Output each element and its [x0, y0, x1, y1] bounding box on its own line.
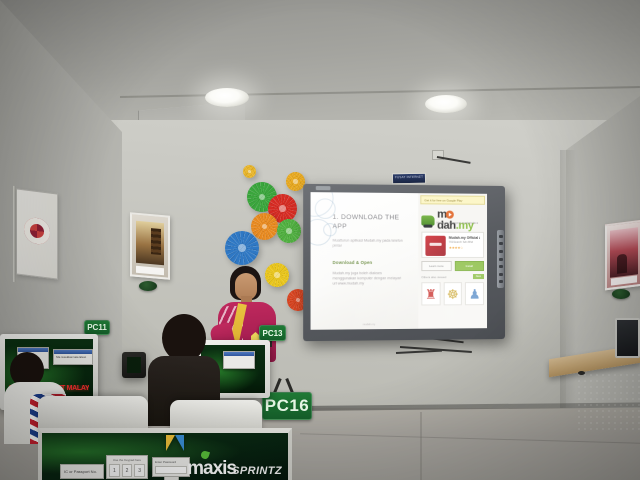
related-tile-1[interactable]: ♜: [421, 282, 440, 305]
pc-label-13: PC13: [259, 325, 286, 341]
cursor-icon: [166, 435, 184, 451]
student-monitor-back[interactable]: [122, 352, 146, 378]
related-section-header: Others also viewed New: [421, 274, 484, 279]
paper-fan-amber-small: [286, 172, 305, 191]
browser-panel[interactable]: Get it for free on Google Play mdah.my M…: [418, 193, 487, 329]
related-tiles: ♜ ☸ ♟: [421, 282, 484, 305]
app-icon: [425, 236, 445, 256]
poster-badge-left-icon: [139, 281, 157, 291]
framed-poster-right: [605, 220, 640, 291]
dialog-titlebar: [224, 352, 254, 356]
slide-footer: mudah.my: [363, 323, 376, 326]
poster-caption: [136, 266, 164, 275]
related-section-badge: New: [473, 274, 484, 279]
instructor-monitor[interactable]: [615, 318, 640, 358]
foreground-monitor[interactable]: IC or Passport No. Use the Keypad here 1…: [38, 428, 292, 480]
password-dialog-title: Enter Password: [155, 460, 187, 464]
password-dialog[interactable]: Enter Password: [152, 457, 190, 477]
whiteboard-button[interactable]: [499, 250, 503, 253]
slide-subheading: Download & Open: [333, 260, 373, 265]
whiteboard-button[interactable]: [499, 235, 503, 238]
poster-artwork: [610, 227, 638, 277]
sprintz-wordmark: SPRINTZ: [232, 465, 282, 477]
keypad-keys: 1 2 3: [109, 464, 145, 477]
app-rating-stars: ★★★★☆: [449, 246, 480, 250]
monitor-screen[interactable]: [127, 357, 141, 373]
interactive-whiteboard[interactable]: 1. DOWNLOAD THE APP Muatturun aplikasi M…: [303, 184, 505, 341]
mudah-tagline: Malaysia's largest marketplace: [437, 222, 479, 225]
rollup-banner: [16, 188, 58, 279]
floor-seam-vertical: [420, 412, 422, 480]
tile-glyph-icon: ♟: [469, 287, 481, 300]
paper-fan-tiny: [243, 165, 256, 178]
desk-cable-grommet: [578, 371, 585, 375]
maxis-wordmark: maxis: [187, 458, 236, 479]
paper-fan-blue: [225, 231, 259, 265]
poster-artwork: [136, 221, 164, 265]
whiteboard-button[interactable]: [499, 265, 503, 268]
paper-fan-orange: [251, 213, 278, 240]
student-head: [162, 314, 206, 362]
whiteboard-button[interactable]: [499, 280, 503, 283]
app-action-buttons: Learn more Install: [421, 261, 484, 271]
screen-dialog[interactable]: [223, 351, 255, 369]
password-input[interactable]: [155, 466, 187, 474]
related-section-title: Others also viewed: [421, 275, 446, 279]
maxis-logo: maxis: [187, 459, 236, 478]
learn-more-button[interactable]: Learn more: [421, 261, 451, 271]
app-meta: Mudah.my Official App 701Search Sdn Bhd …: [449, 236, 480, 254]
slide-body-text-secondary: Mudah.my juga boleh diakses menggunakan …: [333, 271, 403, 287]
wall-sign-text: PUSAT INTERNET: [393, 174, 425, 182]
whiteboard-button[interactable]: [499, 242, 503, 245]
framed-poster-left: [130, 212, 170, 279]
instructor-desk-panel: [576, 372, 640, 434]
tile-glyph-icon: ♜: [425, 287, 437, 300]
truck-icon: [421, 215, 435, 225]
whiteboard-button[interactable]: [499, 257, 503, 260]
pc-label-11: PC11: [84, 320, 110, 335]
ic-passport-input[interactable]: IC or Passport No.: [60, 464, 104, 479]
downlight-left-icon: [205, 88, 249, 107]
play-dot-icon: [446, 211, 454, 219]
password-ok-button[interactable]: [164, 476, 179, 480]
whiteboard-brand-icon: [316, 186, 331, 190]
paper-fan-green-small: [277, 219, 301, 243]
room-scene: PUSAT INTERNET 1. DOWNLOAD THE APP Muatt…: [0, 0, 640, 480]
related-tile-3[interactable]: ♟: [465, 282, 484, 305]
whiteboard-button[interactable]: [499, 273, 503, 276]
keypad-key-3[interactable]: 3: [134, 464, 145, 477]
install-button[interactable]: Install: [454, 261, 484, 271]
wall-corner-shadow: [560, 150, 576, 440]
poster-badge-right-icon: [612, 289, 630, 299]
wall-sign: PUSAT INTERNET: [392, 173, 426, 185]
downlight-right-icon: [425, 95, 467, 113]
keypad-key-1[interactable]: 1: [109, 464, 120, 477]
slide-title: 1. DOWNLOAD THE APP: [333, 213, 410, 232]
keypad-key-2[interactable]: 2: [122, 464, 133, 477]
slide-body-text: Muatturun aplikasi Mudah.my pada telefon…: [333, 238, 403, 249]
whiteboard-screen[interactable]: 1. DOWNLOAD THE APP Muatturun aplikasi M…: [311, 192, 487, 330]
onscreen-keypad[interactable]: Use the Keypad here 1 2 3: [106, 455, 148, 479]
app-promo-banner[interactable]: Get it for free on Google Play: [420, 195, 485, 205]
whiteboard-side-buttons[interactable]: [497, 230, 504, 288]
related-tile-2[interactable]: ☸: [443, 282, 462, 305]
mudah-logo[interactable]: mdah.my: [421, 209, 487, 232]
banner-logo-icon: [24, 216, 50, 245]
app-name: Mudah.my Official App: [449, 236, 480, 240]
presentation-slide: 1. DOWNLOAD THE APP Muatturun aplikasi M…: [311, 192, 419, 330]
tile-glyph-icon: ☸: [447, 287, 459, 300]
app-listing-card[interactable]: Mudah.my Official App 701Search Sdn Bhd …: [421, 232, 484, 258]
app-developer: 701Search Sdn Bhd: [449, 241, 480, 244]
keypad-caption: Use the Keypad here: [109, 458, 145, 462]
